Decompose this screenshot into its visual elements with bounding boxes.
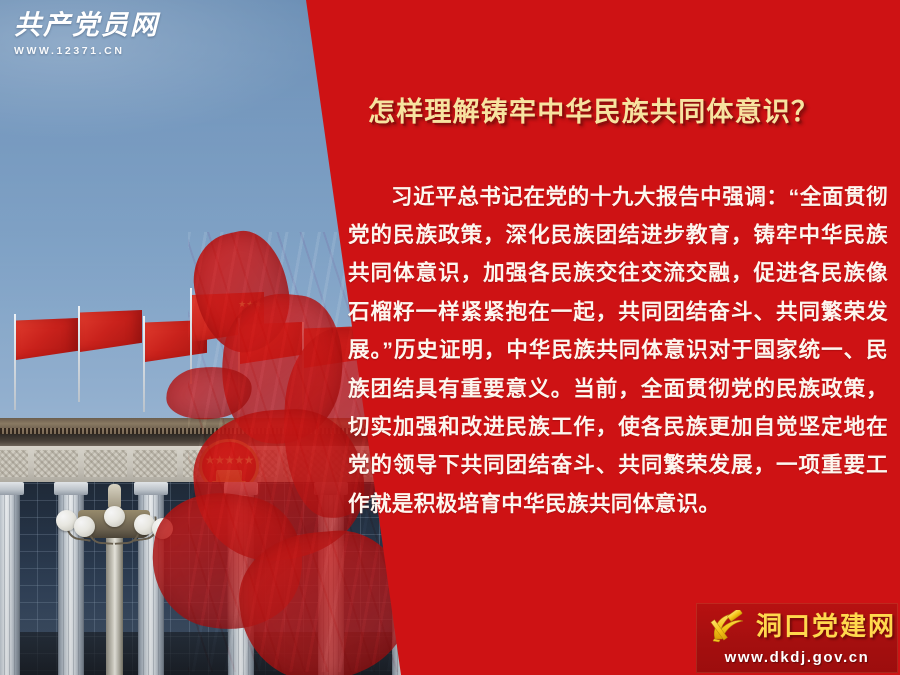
flag-cloth (16, 318, 78, 360)
lamp-finial (108, 484, 121, 508)
poster-canvas: ★★★★★ (0, 0, 900, 675)
flag-cloth (80, 310, 142, 352)
badge-name: 洞口党建网 (756, 614, 896, 640)
site-logo[interactable]: 共产党员网 WWW.12371.CN (14, 12, 164, 57)
frieze-panel (0, 450, 28, 477)
site-logo-name: 共产党员网 (14, 12, 164, 39)
flagpole (14, 314, 16, 410)
flagpole (78, 306, 80, 402)
partner-badge[interactable]: 洞口党建网 www.dkdj.gov.cn (696, 603, 898, 673)
badge-top-row: 洞口党建网 (696, 607, 898, 647)
lamp-globe (74, 516, 95, 537)
page-title: 怎样理解铸牢中华民族共同体意识？ (368, 90, 888, 129)
column (0, 482, 20, 675)
content-panel: 怎样理解铸牢中华民族共同体意识？ 习近平总书记在党的十九大报告中强调：“全面贯彻… (330, 0, 900, 675)
lamp-post (106, 528, 123, 675)
article-body: 习近平总书记在党的十九大报告中强调：“全面贯彻党的民族政策，深化民族团结进步教育… (348, 178, 888, 524)
badge-url: www.dkdj.gov.cn (696, 649, 898, 666)
lamp-globe (104, 506, 125, 527)
hammer-and-sickle-icon (708, 610, 748, 644)
flagpole (143, 316, 145, 412)
site-logo-url: WWW.12371.CN (14, 45, 164, 57)
